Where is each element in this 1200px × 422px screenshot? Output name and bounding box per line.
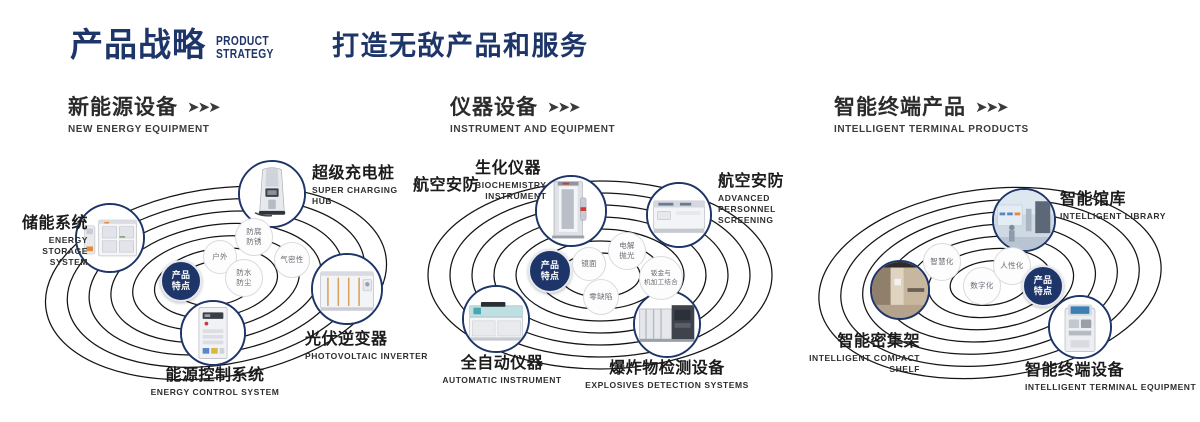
automatic-instrument-photo	[464, 287, 528, 351]
page-title-cn: 产品战略	[70, 28, 206, 61]
node-label-advanced-personnel-screening: 航空安防 ADVANCED PERSONNEL SCREENING	[718, 173, 800, 226]
chevron-right-icon: ➤➤➤	[547, 100, 579, 115]
node-label-intelligent-compact-shelf: 智能密集架 INTELLIGENT COMPACT SHELF	[760, 333, 920, 375]
cluster-new-energy: 储能系统 ENERGY STORAGE SYSTEM 超级充电桩 SUPER C…	[20, 155, 420, 405]
intelligent-library-photo	[994, 190, 1054, 250]
feature-bubble-mirror: 镜面	[572, 247, 606, 281]
node-label-intelligent-terminal-equipment: 智能终端设备 INTELLIGENT TERMINAL EQUIPMENT	[1025, 362, 1196, 393]
node-label-energy-control-system: 能源控制系统 ENERGY CONTROL SYSTEM	[100, 367, 330, 398]
section-title-cn: 新能源设备	[68, 96, 178, 119]
node-label-automatic-instrument: 全自动仪器 AUTOMATIC INSTRUMENT	[392, 355, 612, 386]
node-intelligent-library[interactable]	[992, 188, 1056, 252]
section-title-cn: 智能终端产品	[834, 96, 966, 119]
node-label-energy-storage-system: 储能系统 ENERGY STORAGE SYSTEM	[2, 215, 88, 268]
section-subtitle-en: INTELLIGENT TERMINAL PRODUCTS	[834, 123, 1029, 135]
section-subtitle-en: INSTRUMENT AND EQUIPMENT	[450, 123, 615, 135]
feature-bubble-waterproof: 防水 防尘	[225, 259, 263, 297]
feature-main-bubble: 产品 特点	[160, 260, 202, 302]
feature-bubble-airtight: 气密性	[274, 242, 310, 278]
feature-bubble-zero-defect: 零缺陷	[583, 279, 619, 315]
section-title-cn: 仪器设备	[450, 96, 538, 119]
energy-control-system-photo	[182, 302, 244, 364]
node-intelligent-terminal-equipment[interactable]	[1048, 295, 1112, 359]
feature-bubble-electropolish: 电解 抛光	[608, 232, 646, 270]
node-advanced-personnel-screening[interactable]	[646, 182, 712, 248]
chevron-right-icon: ➤➤➤	[975, 100, 1007, 115]
node-energy-control-system[interactable]	[180, 300, 246, 366]
feature-bubble-anticorrosion: 防腐 防锈	[235, 218, 273, 256]
photovoltaic-inverter-photo	[313, 255, 381, 323]
chevron-right-icon: ➤➤➤	[187, 100, 219, 115]
node-label-aviation-security: 航空安防	[413, 177, 479, 195]
page-title: 产品战略 PRODUCT STRATEGY	[70, 28, 286, 61]
advanced-personnel-screening-photo	[648, 184, 710, 246]
node-label-intelligent-library: 智能馆库 INTELLIGENT LIBRARY	[1060, 191, 1166, 222]
intelligent-terminal-equipment-photo	[1050, 297, 1110, 357]
feature-main-bubble: 产品 特点	[528, 249, 572, 293]
node-intelligent-compact-shelf[interactable]	[870, 260, 930, 320]
feature-main-bubble: 产品 特点	[1022, 265, 1064, 307]
page-subtitle: 打造无敌产品和服务	[332, 33, 589, 60]
node-photovoltaic-inverter[interactable]	[311, 253, 383, 325]
section-subtitle-en: NEW ENERGY EQUIPMENT	[68, 123, 211, 135]
cluster-instrument: 航空安防 生化仪器 BIOCHEMISTRY INSTRUMENT	[400, 155, 800, 405]
feature-bubble-smart: 智慧化	[923, 243, 961, 281]
intelligent-compact-shelf-photo	[872, 262, 928, 318]
biochemistry-instrument-photo	[537, 177, 605, 245]
section-title-instrument: 仪器设备 ➤➤➤ INSTRUMENT AND EQUIPMENT	[450, 96, 624, 135]
page-title-en: PRODUCT STRATEGY	[216, 35, 274, 60]
node-label-biochemistry-instrument: 生化仪器 BIOCHEMISTRY INSTRUMENT	[475, 160, 546, 202]
node-explosives-detection-systems[interactable]	[633, 290, 701, 358]
node-automatic-instrument[interactable]	[462, 285, 530, 353]
feature-bubble-sheetmetal-machining: 钣金与 机加工结合	[639, 256, 683, 300]
cluster-intelligent-terminal: 智能馆库 INTELLIGENT LIBRARY 智能终端设备 INTELLIG…	[800, 155, 1200, 405]
super-charging-hub-photo	[240, 162, 304, 226]
section-title-new-energy: 新能源设备 ➤➤➤ NEW ENERGY EQUIPMENT	[68, 96, 219, 135]
section-title-intelligent-terminal: 智能终端产品 ➤➤➤ INTELLIGENT TERMINAL PRODUCTS	[834, 96, 1039, 135]
product-strategy-infographic: 产品战略 PRODUCT STRATEGY 打造无敌产品和服务 新能源设备 ➤➤…	[0, 0, 1200, 422]
explosives-detection-systems-photo	[635, 292, 699, 356]
